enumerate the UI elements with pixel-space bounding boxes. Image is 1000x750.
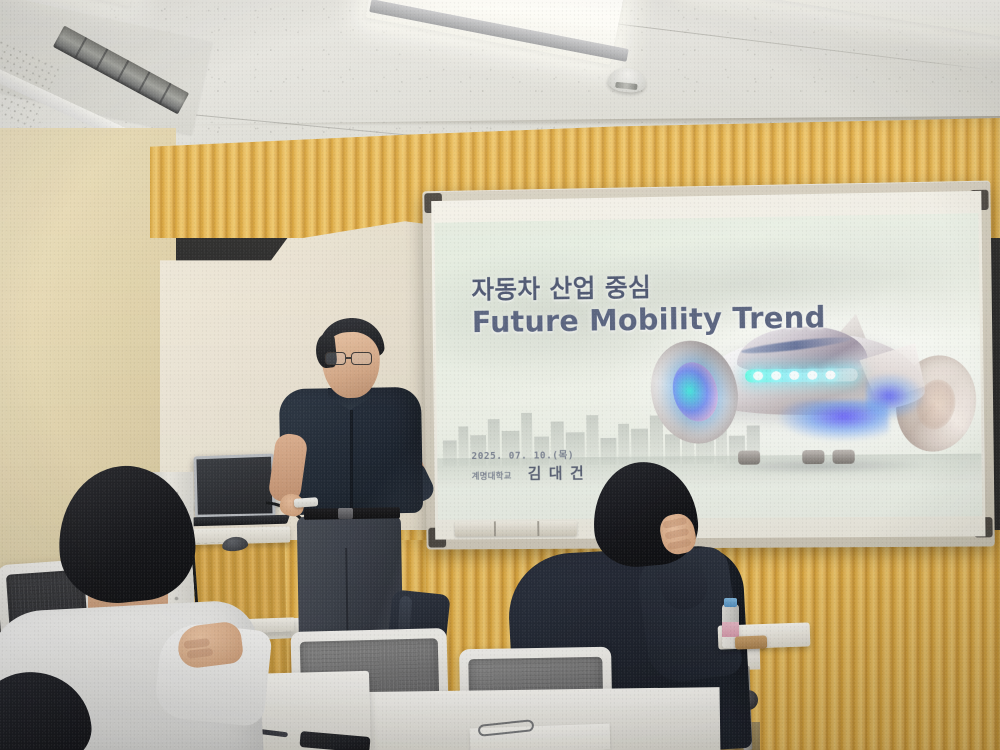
belt-buckle [338,508,353,519]
vehicle-light-bar [745,368,858,382]
slide-title-english: Future Mobility Trend [472,300,826,339]
vehicle-landing-gear [802,450,824,464]
shirt-button-placket [350,410,353,510]
student-hair [589,458,702,571]
presenter-remote[interactable] [294,497,319,508]
vent-louver-slot [53,26,189,115]
slide-title-korean: 자동차 산업 중심 [471,268,651,307]
vehicle-underglow [778,400,889,441]
slide-date: 2025. 07. 10.(목) [471,447,574,462]
lecture-hall-photo: 자동차 산업 중심 Future Mobility Trend 2025. 07… [0,0,1000,750]
student-hair [51,459,200,608]
vehicle-front-thruster-ring [640,331,749,453]
bottle-cap [724,598,737,607]
snack-bar[interactable] [735,635,767,649]
glasses-icon [325,352,379,365]
bottle-label [722,622,739,637]
vehicle-landing-gear [832,450,854,464]
